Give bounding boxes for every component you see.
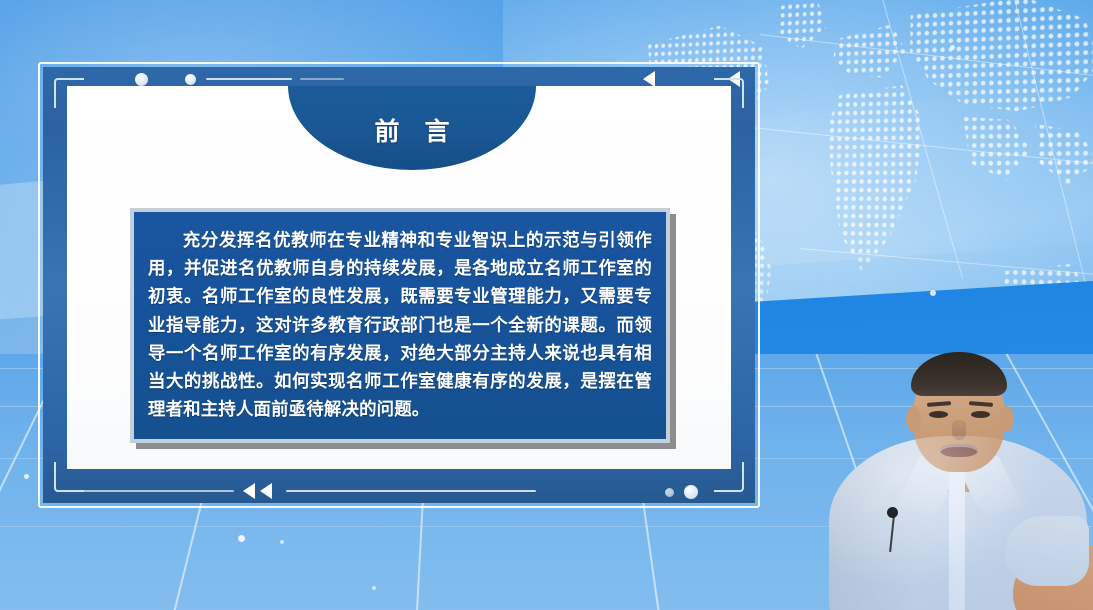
particle-dot (950, 45, 955, 50)
presenter-eye-right (971, 411, 990, 418)
frame-accent-line (300, 78, 344, 80)
presenter-video-overlay: presenter-speaker (821, 328, 1093, 610)
left-arrow-icon (643, 71, 655, 87)
presenter-label: presenter-speaker (821, 328, 822, 329)
presenter-ear-left (906, 406, 921, 432)
frame-dot-node (135, 73, 148, 86)
presenter-eye-left (929, 411, 948, 418)
presenter-shirt-shading (829, 436, 1087, 610)
frame-dot-node (185, 74, 196, 85)
presenter-hair (911, 352, 1007, 396)
page-title: 前 言 (366, 112, 459, 148)
body-text-container: 充分发挥名优教师在专业精神和专业智识上的示范与引领作用，并促进名优教师自身的持续… (130, 208, 670, 443)
slide-canvas: 前 言 充分发挥名优教师在专业精神和专业智识上的示范与引领作用，并促进名优教师自… (67, 86, 731, 469)
body-text-box: 充分发挥名优教师在专业精神和专业智识上的示范与引领作用，并促进名优教师自身的持续… (130, 208, 670, 443)
video-slide-screen: 前 言 充分发挥名优教师在专业精神和专业智识上的示范与引领作用，并促进名优教师自… (0, 0, 1093, 610)
frame-dot-node (684, 485, 698, 499)
left-arrow-icon (260, 483, 272, 499)
frame-accent-line (206, 78, 292, 80)
slide-title-banner: 前 言 (288, 86, 536, 170)
lapel-microphone-icon (887, 507, 898, 518)
particle-dot (930, 290, 936, 296)
slide-frame: 前 言 充分发挥名优教师在专业精神和专业智识上的示范与引领作用，并促进名优教师自… (38, 62, 760, 508)
particle-dot (280, 540, 284, 544)
particle-dot (372, 586, 376, 590)
presenter-ear-right (999, 406, 1014, 432)
frame-accent-line (286, 490, 536, 492)
frame-dot-node (665, 488, 674, 497)
particle-dot (238, 535, 245, 542)
left-arrow-icon (243, 483, 255, 499)
particle-dot (24, 474, 29, 479)
body-paragraph: 充分发挥名优教师在专业精神和专业智识上的示范与引领作用，并促进名优教师自身的持续… (148, 226, 652, 423)
particle-dot (1040, 160, 1043, 163)
